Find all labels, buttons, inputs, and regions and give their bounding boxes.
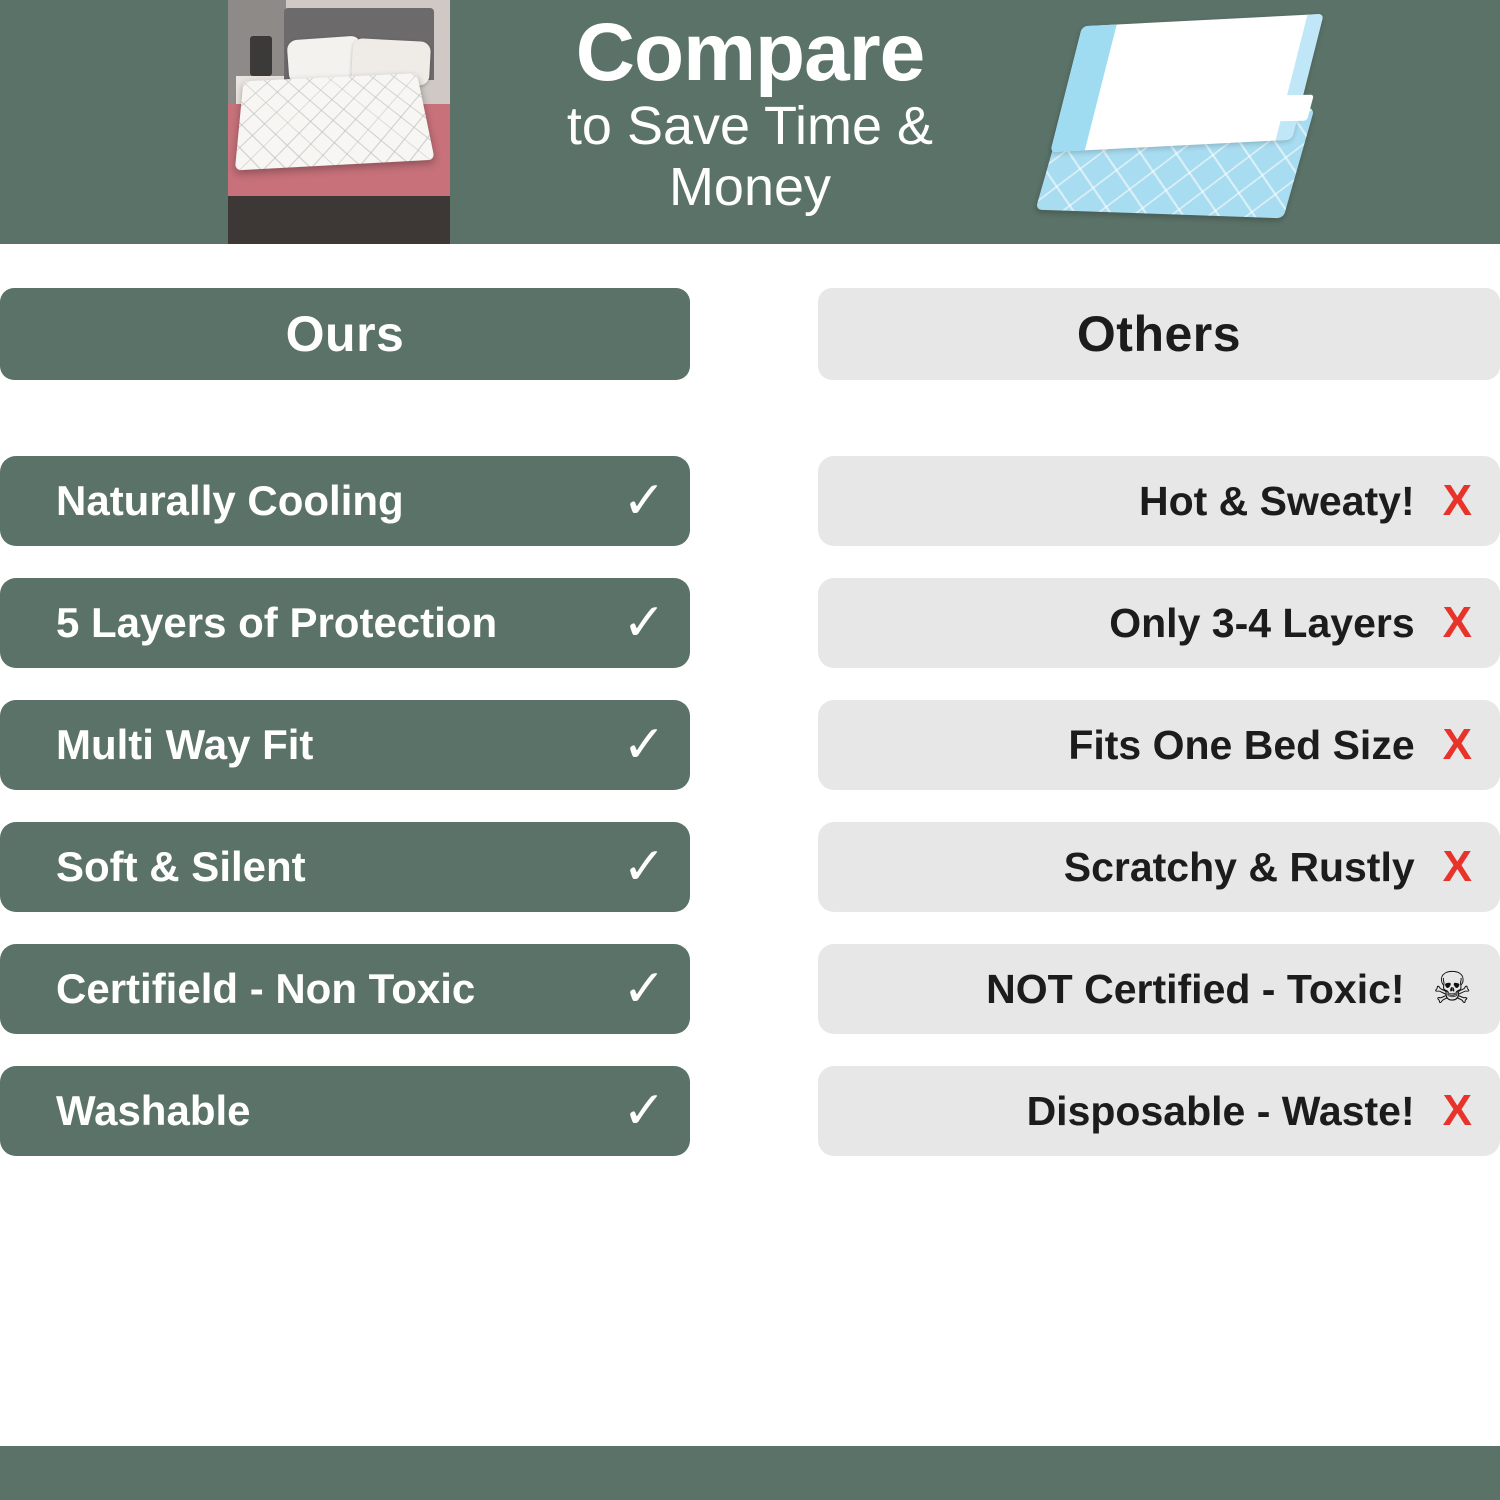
footer-bar	[0, 1446, 1500, 1500]
photo-mattress-pad	[235, 73, 435, 170]
ours-feature-label: Multi Way Fit	[56, 721, 313, 769]
ours-feature-label: 5 Layers of Protection	[56, 599, 497, 647]
ours-feature-label: Soft & Silent	[56, 843, 306, 891]
check-icon: ✓	[622, 597, 666, 649]
others-feature-label: Scratchy & Rustly	[1064, 844, 1415, 891]
photo-lamp	[250, 36, 272, 76]
others-feature-label: Hot & Sweaty!	[1139, 478, 1415, 525]
others-cell: Scratchy & Rustly X	[818, 822, 1500, 912]
table-row: Certifield - Non Toxic ✓ NOT Certified -…	[0, 944, 1500, 1034]
photo-floor	[228, 196, 450, 244]
table-row: 5 Layers of Protection ✓ Only 3-4 Layers…	[0, 578, 1500, 668]
cross-icon: X	[1443, 601, 1472, 645]
ours-feature-label: Naturally Cooling	[56, 477, 404, 525]
others-feature-label: NOT Certified - Toxic!	[986, 966, 1404, 1013]
cross-icon: X	[1443, 479, 1472, 523]
table-row: Soft & Silent ✓ Scratchy & Rustly X	[0, 822, 1500, 912]
comparison-rows: Naturally Cooling ✓ Hot & Sweaty! X 5 La…	[0, 412, 1500, 1156]
others-feature-label: Disposable - Waste!	[1027, 1088, 1415, 1135]
comparison-header-row: Ours Others	[0, 288, 1500, 380]
ours-feature-label: Certifield - Non Toxic	[56, 965, 475, 1013]
table-row: Naturally Cooling ✓ Hot & Sweaty! X	[0, 456, 1500, 546]
cross-icon: X	[1443, 723, 1472, 767]
table-row: Multi Way Fit ✓ Fits One Bed Size X	[0, 700, 1500, 790]
header-title-main: Compare	[470, 10, 1030, 96]
others-cell: Fits One Bed Size X	[818, 700, 1500, 790]
skull-and-crossbones-icon: ☠	[1433, 967, 1472, 1011]
product-pad-white-fold	[1156, 95, 1314, 124]
cross-icon: X	[1443, 845, 1472, 889]
product-pad-edge-left	[1050, 25, 1116, 153]
check-icon: ✓	[622, 719, 666, 771]
column-header-ours-label: Ours	[286, 305, 405, 363]
check-icon: ✓	[622, 841, 666, 893]
others-feature-label: Fits One Bed Size	[1068, 722, 1414, 769]
bed-photo	[228, 0, 450, 244]
ours-cell: Soft & Silent ✓	[0, 822, 690, 912]
header-title-block: Compare to Save Time & Money	[470, 10, 1030, 218]
ours-cell: Naturally Cooling ✓	[0, 456, 690, 546]
column-header-ours: Ours	[0, 288, 690, 380]
check-icon: ✓	[622, 1085, 666, 1137]
others-cell: Disposable - Waste! X	[818, 1066, 1500, 1156]
header-title-sub-2: Money	[470, 156, 1030, 218]
others-feature-label: Only 3-4 Layers	[1109, 600, 1414, 647]
ours-cell: Multi Way Fit ✓	[0, 700, 690, 790]
comparison-table: Ours Others Naturally Cooling ✓ Hot & Sw…	[0, 244, 1500, 1156]
comparison-header-wrap: Ours Others	[0, 244, 1500, 380]
ours-cell: 5 Layers of Protection ✓	[0, 578, 690, 668]
others-cell: Hot & Sweaty! X	[818, 456, 1500, 546]
ours-cell: Certifield - Non Toxic ✓	[0, 944, 690, 1034]
check-icon: ✓	[622, 475, 666, 527]
column-header-others: Others	[818, 288, 1500, 380]
product-illustration	[1040, 18, 1340, 228]
product-pad-folded-top	[1050, 14, 1323, 152]
cross-icon: X	[1443, 1089, 1472, 1133]
header-title-sub-1: to Save Time &	[470, 96, 1030, 156]
ours-feature-label: Washable	[56, 1087, 251, 1135]
photo-pad-quilting	[235, 73, 435, 170]
header-banner: Compare to Save Time & Money	[0, 0, 1500, 244]
others-cell: NOT Certified - Toxic! ☠	[818, 944, 1500, 1034]
check-icon: ✓	[622, 963, 666, 1015]
table-row: Washable ✓ Disposable - Waste! X	[0, 1066, 1500, 1156]
ours-cell: Washable ✓	[0, 1066, 690, 1156]
column-header-others-label: Others	[1077, 305, 1241, 363]
others-cell: Only 3-4 Layers X	[818, 578, 1500, 668]
